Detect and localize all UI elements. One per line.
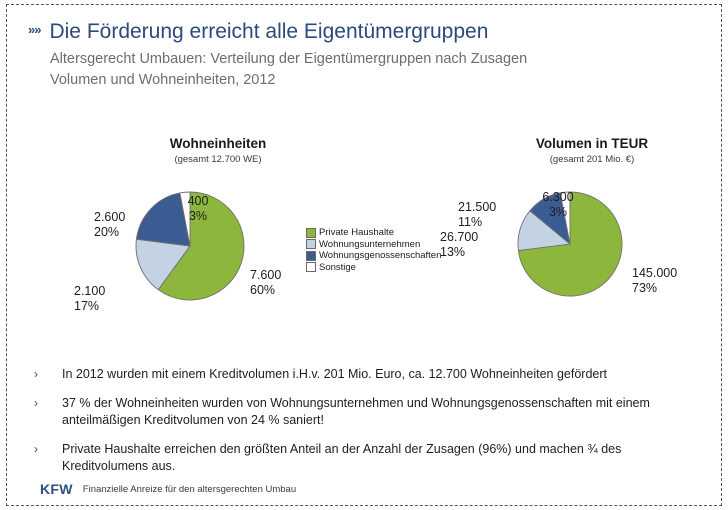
pie-right-label-private: 145.000 73% [632, 266, 694, 296]
page-subtitle-line1: Altersgerecht Umbauen: Verteilung der Ei… [50, 49, 698, 70]
bullet-text: In 2012 wurden mit einem Kreditvolumen i… [62, 366, 607, 383]
bullet-marker-icon: › [34, 366, 62, 383]
kfw-logo: KFW [40, 481, 73, 497]
bullet-list: › In 2012 wurden mit einem Kreditvolumen… [34, 366, 694, 487]
legend-swatch-wohnungsgenossenschaften [306, 251, 316, 261]
title-row: »» Die Förderung erreicht alle Eigentüme… [28, 20, 698, 44]
bullet-text: Private Haushalte erreichen den größten … [62, 441, 694, 475]
pie-right-label-genossenschaften: 21.500 11% [458, 200, 514, 230]
legend-swatch-sonstige [306, 262, 316, 272]
legend-item-wohnungsgenossenschaften: Wohnungsgenossenschaften [306, 250, 441, 262]
slide-footer: KFW Finanzielle Anreize für den altersge… [40, 481, 296, 497]
bullet-text: 37 % der Wohneinheiten wurden von Wohnun… [62, 395, 694, 429]
chevron-double-right-icon: »» [28, 23, 40, 36]
page-subtitle-line2: Volumen und Wohneinheiten, 2012 [50, 70, 698, 91]
chart-right-plot-area: 6.300 3% 21.500 11% 26.700 13% 145.000 7… [438, 166, 718, 316]
bullet-marker-icon: › [34, 395, 62, 429]
pie-left-label-unternehmen: 2.100 17% [74, 284, 130, 314]
legend-swatch-wohnungsunternehmen [306, 239, 316, 249]
legend-swatch-private-haushalte [306, 228, 316, 238]
legend-label-wohnungsgenossenschaften: Wohnungsgenossenschaften [319, 250, 441, 262]
legend-label-private-haushalte: Private Haushalte [319, 227, 394, 239]
bullet-marker-icon: › [34, 441, 62, 475]
chart-left-title: Wohneinheiten [84, 136, 352, 152]
chart-right-subtitle: (gesamt 201 Mio. €) [466, 153, 718, 166]
chart-legend: Private Haushalte Wohnungsunternehmen Wo… [306, 227, 441, 273]
chart-wohneinheiten: Wohneinheiten (gesamt 12.700 WE) 400 3% … [72, 136, 352, 316]
slide-header: »» Die Förderung erreicht alle Eigentüme… [28, 20, 698, 91]
chart-volumen: Volumen in TEUR (gesamt 201 Mio. €) 6.30… [438, 136, 718, 316]
pie-left-label-genossenschaften: 2.600 20% [94, 210, 150, 240]
pie-right-label-sonstige: 6.300 3% [534, 190, 582, 220]
legend-label-wohnungsunternehmen: Wohnungsunternehmen [319, 239, 420, 251]
pie-left-label-sonstige: 400 3% [176, 194, 220, 224]
bullet-item: › In 2012 wurden mit einem Kreditvolumen… [34, 366, 694, 383]
pie-right-label-unternehmen: 26.700 13% [440, 230, 496, 260]
bullet-item: › 37 % der Wohneinheiten wurden von Wohn… [34, 395, 694, 429]
bullet-item: › Private Haushalte erreichen den größte… [34, 441, 694, 475]
chart-left-subtitle: (gesamt 12.700 WE) [84, 153, 352, 166]
legend-label-sonstige: Sonstige [319, 262, 356, 274]
legend-item-private-haushalte: Private Haushalte [306, 227, 441, 239]
slide-canvas: »» Die Förderung erreicht alle Eigentüme… [0, 0, 728, 510]
page-title: Die Förderung erreicht alle Eigentümergr… [49, 20, 488, 44]
footer-text: Finanzielle Anreize für den altersgerech… [83, 484, 296, 495]
pie-left-label-private: 7.600 60% [250, 268, 300, 298]
chart-right-title: Volumen in TEUR [466, 136, 718, 152]
legend-item-wohnungsunternehmen: Wohnungsunternehmen [306, 239, 441, 251]
legend-item-sonstige: Sonstige [306, 262, 441, 274]
